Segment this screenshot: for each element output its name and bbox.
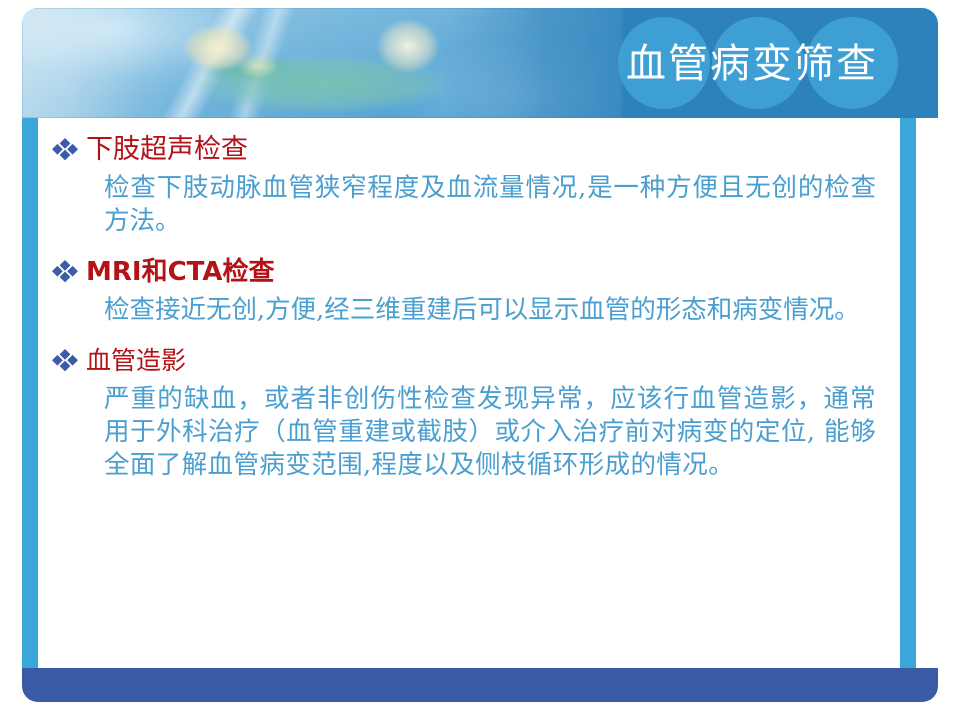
section-body: 检查接近无创,方便,经三维重建后可以显示血管的形态和病变情况。 [52, 294, 886, 327]
section-lower-limb-ultrasound: 下肢超声检查 检查下肢动脉血管狭窄程度及血流量情况,是一种方便且无创的检查方法。 [52, 134, 886, 238]
section-heading: 下肢超声检查 [86, 134, 248, 166]
diamond-bullet-icon [52, 349, 78, 374]
spacer [52, 333, 886, 345]
diamond-bullet-icon [52, 138, 78, 163]
right-accent-rail [900, 118, 916, 668]
section-mri-cta: MRI和CTA检查 检查接近无创,方便,经三维重建后可以显示血管的形态和病变情况… [52, 256, 886, 327]
content-panel: 下肢超声检查 检查下肢动脉血管狭窄程度及血流量情况,是一种方便且无创的检查方法。 [38, 118, 900, 668]
header-banner: 血管病变筛查 [22, 8, 938, 118]
spacer [52, 244, 886, 256]
section-heading: MRI和CTA检查 [86, 256, 275, 288]
section-heading-row: 下肢超声检查 [52, 134, 886, 166]
left-accent-rail [22, 118, 38, 668]
section-body: 检查下肢动脉血管狭窄程度及血流量情况,是一种方便且无创的检查方法。 [52, 172, 886, 238]
diamond-bullet-icon [52, 260, 78, 285]
section-heading-row: 血管造影 [52, 345, 886, 377]
footer-bar [22, 668, 938, 702]
section-body: 严重的缺血，或者非创伤性检查发现异常，应该行血管造影，通常用于外科治疗（血管重建… [52, 383, 886, 482]
slide: 血管病变筛查 下肢超声检查 检 [0, 0, 960, 720]
section-heading-row: MRI和CTA检查 [52, 256, 886, 288]
section-heading: 血管造影 [86, 345, 186, 377]
slide-title: 血管病变筛查 [582, 42, 922, 86]
section-angiography: 血管造影 严重的缺血，或者非创伤性检查发现异常，应该行血管造影，通常用于外科治疗… [52, 345, 886, 482]
